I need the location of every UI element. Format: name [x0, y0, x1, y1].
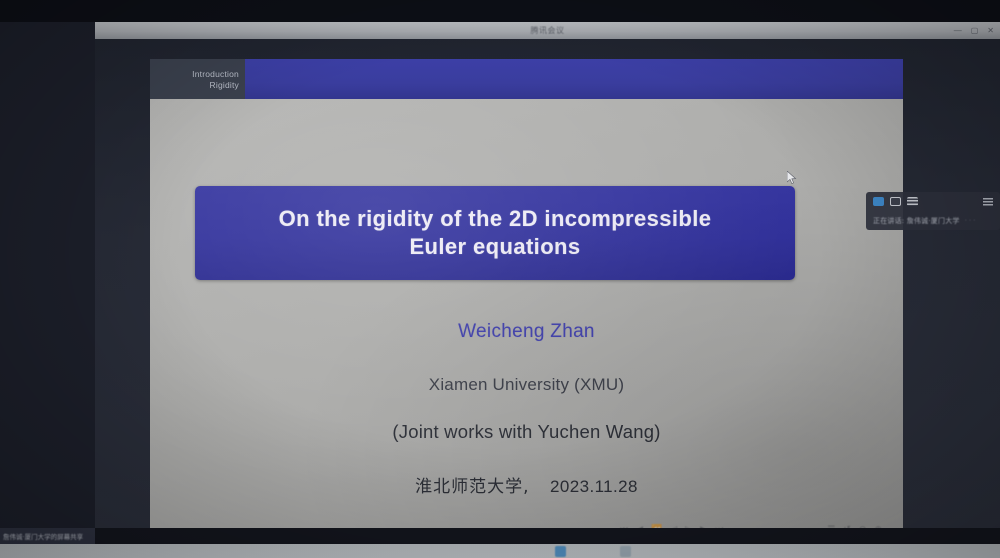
- video-icon[interactable]: [873, 197, 884, 206]
- screen-bezel-top: [0, 0, 1000, 22]
- overflow-icon[interactable]: · · ·: [965, 217, 976, 224]
- app-icon-2[interactable]: [620, 546, 631, 557]
- close-icon[interactable]: ✕: [987, 27, 994, 35]
- sidebar-item-introduction[interactable]: Introduction: [192, 69, 239, 79]
- slide-header-accent-bar: [245, 59, 903, 99]
- window-title: 腾讯会议: [531, 25, 565, 36]
- mouse-cursor-icon: [787, 171, 797, 185]
- screen-bezel-left: [0, 0, 100, 558]
- slide-affiliation: Xiamen University (XMU): [150, 375, 903, 395]
- speaker-panel-status: 正在讲话: 詹伟诚·厦门大学 · · ·: [866, 211, 1000, 230]
- window-controls[interactable]: — ▢ ✕: [954, 22, 994, 39]
- slide-title-box: On the rigidity of the 2D incompressible…: [195, 186, 795, 280]
- window-titlebar[interactable]: 腾讯会议 — ▢ ✕: [95, 22, 1000, 39]
- speaker-panel-controls[interactable]: [866, 192, 1000, 211]
- slide-navigation-header: Introduction Rigidity: [150, 59, 903, 99]
- slide-nav-items[interactable]: Introduction Rigidity: [150, 59, 245, 99]
- slide-date: 2023.11.28: [550, 477, 638, 496]
- screen-photo: 腾讯会议 — ▢ ✕ Introduction Rigidity On the …: [0, 0, 1000, 558]
- shared-screen-viewer: Introduction Rigidity On the rigidity of…: [95, 39, 1000, 550]
- speaker-status-panel[interactable]: 正在讲话: 詹伟诚·厦门大学 · · ·: [866, 192, 1000, 230]
- screen-share-indicator[interactable]: 詹伟诚·厦门大学的屏幕共享: [0, 528, 95, 544]
- slide-venue: 淮北师范大学,: [415, 477, 529, 497]
- presentation-slide: On the rigidity of the 2D incompressible…: [150, 99, 903, 542]
- meeting-window: 腾讯会议 — ▢ ✕ Introduction Rigidity On the …: [95, 22, 1000, 550]
- slide-title-line-1: On the rigidity of the 2D incompressible: [279, 205, 712, 233]
- more-icon[interactable]: [983, 198, 993, 206]
- sidebar-item-rigidity[interactable]: Rigidity: [210, 80, 239, 90]
- app-icon-1[interactable]: [555, 546, 566, 557]
- taskbar-strip: [95, 528, 1000, 544]
- slide-author: Weicheng Zhan: [150, 321, 903, 343]
- participants-icon[interactable]: [907, 197, 918, 206]
- speaker-status-text: 正在讲话: 詹伟诚·厦门大学: [873, 216, 960, 226]
- screen-share-label: 詹伟诚·厦门大学的屏幕共享: [3, 531, 83, 541]
- slide-joint-works: (Joint works with Yuchen Wang): [150, 421, 903, 443]
- slide-title-line-2: Euler equations: [409, 233, 580, 261]
- minimize-icon[interactable]: —: [954, 27, 962, 35]
- screen-share-icon[interactable]: [890, 197, 901, 206]
- maximize-icon[interactable]: ▢: [971, 27, 979, 35]
- slide-venue-and-date: 淮北师范大学, 2023.11.28: [150, 472, 903, 497]
